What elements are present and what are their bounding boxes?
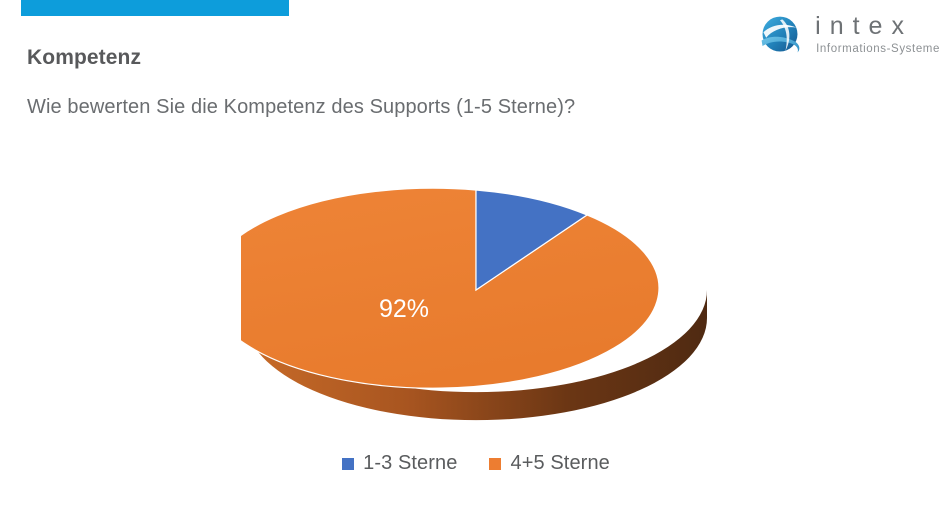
logo-text: intex Informations-Systeme (813, 14, 940, 56)
pie-label-4plus5: 92% (379, 295, 429, 323)
accent-bar (21, 0, 289, 16)
question-text: Wie bewerten Sie die Kompetenz des Suppo… (27, 96, 575, 119)
pie-chart-svg: 8% 92% (241, 140, 711, 440)
intex-globe-logo-icon (757, 12, 803, 58)
slide: intex Informations-Systeme Kompetenz Wie… (0, 0, 952, 510)
logo-tagline: Informations-Systeme (813, 44, 940, 56)
legend-swatch-4plus5 (489, 458, 501, 470)
legend-label-4plus5: 4+5 Sterne (510, 452, 609, 475)
logo-wordmark: intex (813, 14, 940, 39)
legend-label-1to3: 1-3 Sterne (363, 452, 457, 475)
legend-item-1to3[interactable]: 1-3 Sterne (342, 452, 457, 475)
pie-label-1to3: 8% (495, 168, 531, 196)
legend-swatch-1to3 (342, 458, 354, 470)
intex-logo: intex Informations-Systeme (757, 12, 940, 58)
pie-chart: 8% 92% (0, 140, 952, 440)
legend-item-4plus5[interactable]: 4+5 Sterne (489, 452, 609, 475)
page-title: Kompetenz (27, 46, 141, 70)
chart-legend: 1-3 Sterne 4+5 Sterne (0, 452, 952, 475)
pie-slice-4plus5[interactable] (241, 188, 659, 388)
